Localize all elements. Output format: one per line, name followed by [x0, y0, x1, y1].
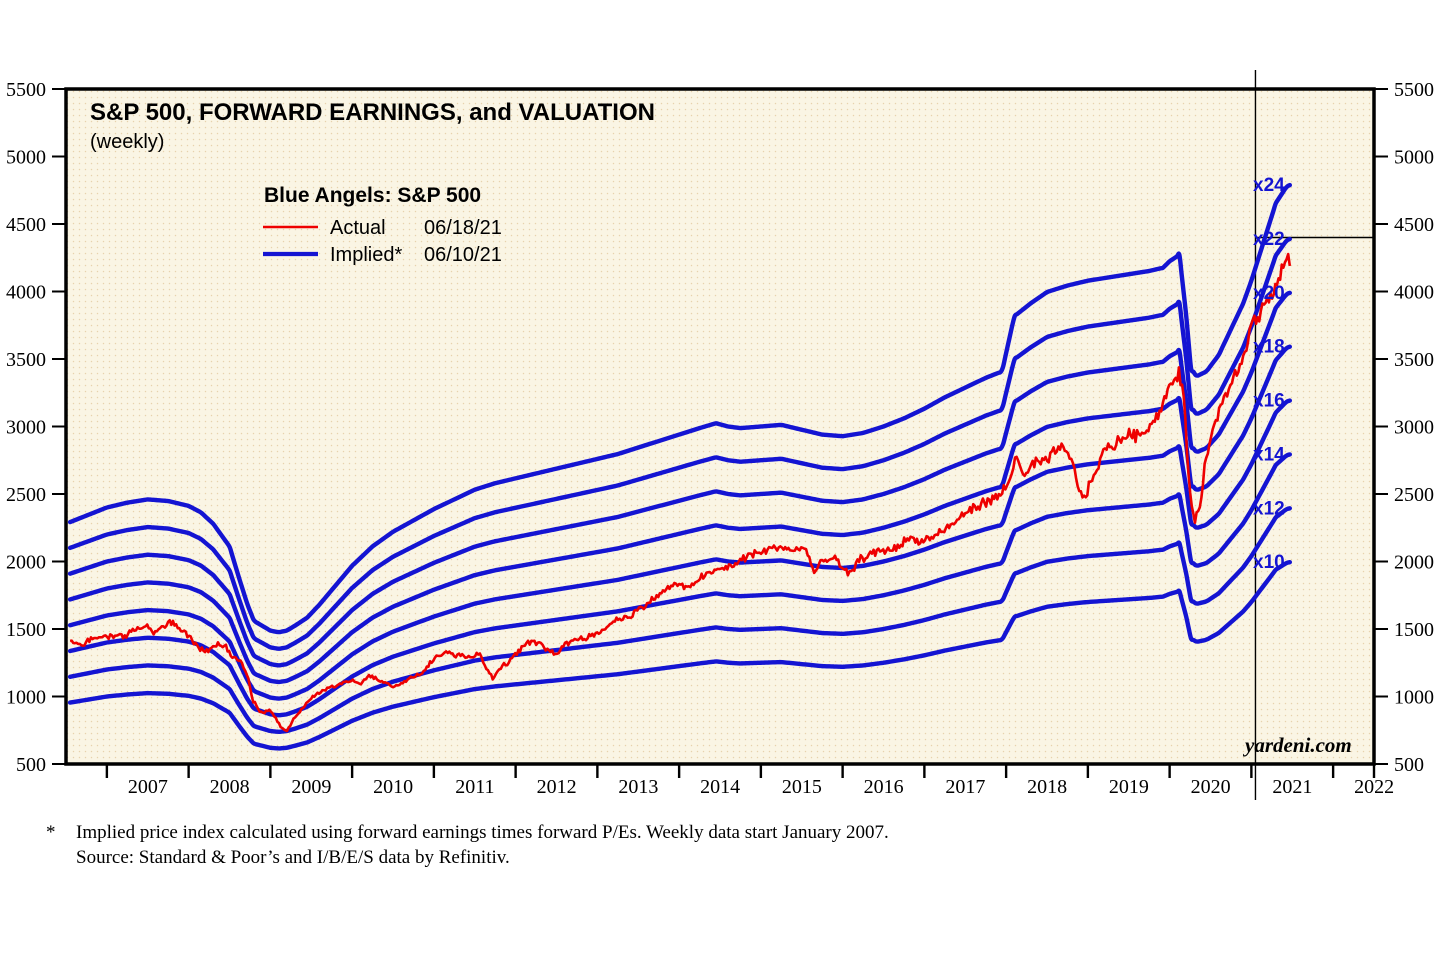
- footnote-line-2: Source: Standard & Poor’s and I/B/E/S da…: [76, 847, 510, 868]
- y-tick-label-right-1500: 1500: [1394, 619, 1434, 641]
- y-tick-label-right-3000: 3000: [1394, 417, 1434, 439]
- y-tick-label-right-500: 500: [1394, 754, 1424, 776]
- y-tick-label-left-4500: 4500: [6, 214, 46, 236]
- y-tick-label-left-500: 500: [16, 754, 46, 776]
- multiplier-label-x22: x22: [1253, 229, 1285, 250]
- y-tick-label-left-3000: 3000: [6, 417, 46, 439]
- y-tick-label-right-5000: 5000: [1394, 147, 1434, 169]
- x-tick-label-2021: 2021: [1272, 776, 1312, 798]
- legend-heading: Blue Angels: S&P 500: [264, 184, 481, 207]
- y-tick-label-right-5500: 5500: [1394, 79, 1434, 101]
- x-tick-label-2015: 2015: [782, 776, 822, 798]
- x-tick-label-2011: 2011: [455, 776, 494, 798]
- x-tick-label-2018: 2018: [1027, 776, 1067, 798]
- page-title: S&P 500, FORWARD EARNINGS, and VALUATION: [90, 99, 655, 126]
- x-tick-label-2008: 2008: [210, 776, 250, 798]
- multiplier-label-x14: x14: [1253, 444, 1285, 465]
- y-tick-label-left-5500: 5500: [6, 79, 46, 101]
- x-tick-label-2020: 2020: [1191, 776, 1231, 798]
- y-tick-label-left-1500: 1500: [6, 619, 46, 641]
- page-subtitle: (weekly): [90, 131, 164, 153]
- y-tick-label-right-4500: 4500: [1394, 214, 1434, 236]
- x-tick-label-2012: 2012: [537, 776, 577, 798]
- y-tick-label-right-1000: 1000: [1394, 687, 1434, 709]
- legend-label-implied: Implied*: [330, 244, 402, 266]
- legend-date-implied: 06/10/21: [424, 244, 502, 266]
- x-tick-label-2013: 2013: [618, 776, 658, 798]
- legend-date-actual: 06/18/21: [424, 217, 502, 239]
- x-tick-label-2017: 2017: [945, 776, 985, 798]
- multiplier-label-x16: x16: [1253, 391, 1285, 412]
- y-tick-label-right-2000: 2000: [1394, 552, 1434, 574]
- multiplier-label-x12: x12: [1253, 498, 1285, 519]
- multiplier-label-x18: x18: [1253, 337, 1285, 358]
- y-tick-label-right-2500: 2500: [1394, 484, 1434, 506]
- y-tick-label-left-4000: 4000: [6, 282, 46, 304]
- multiplier-label-x10: x10: [1253, 552, 1285, 573]
- x-tick-label-2022: 2022: [1354, 776, 1394, 798]
- y-tick-label-left-2000: 2000: [6, 552, 46, 574]
- y-tick-label-right-4000: 4000: [1394, 282, 1434, 304]
- footnote-line-1: Implied price index calculated using for…: [76, 822, 889, 843]
- x-tick-label-2010: 2010: [373, 776, 413, 798]
- x-tick-label-2007: 2007: [128, 776, 168, 798]
- footnote-marker: *: [46, 822, 56, 843]
- y-tick-label-right-3500: 3500: [1394, 349, 1434, 371]
- y-tick-label-left-2500: 2500: [6, 484, 46, 506]
- x-tick-label-2009: 2009: [291, 776, 331, 798]
- x-tick-label-2016: 2016: [864, 776, 904, 798]
- y-tick-label-left-5000: 5000: [6, 147, 46, 169]
- x-tick-label-2019: 2019: [1109, 776, 1149, 798]
- sp500-blue-angels-chart: 5001000150020002500300035004000450050005…: [0, 0, 1454, 961]
- chart-page: 5001000150020002500300035004000450050005…: [0, 0, 1454, 961]
- x-tick-label-2014: 2014: [700, 776, 740, 798]
- y-tick-label-left-1000: 1000: [6, 687, 46, 709]
- y-tick-label-left-3500: 3500: [6, 349, 46, 371]
- watermark: yardeni.com: [1242, 733, 1352, 757]
- legend-label-actual: Actual: [330, 217, 386, 239]
- multiplier-label-x20: x20: [1253, 283, 1285, 304]
- multiplier-label-x24: x24: [1253, 175, 1285, 196]
